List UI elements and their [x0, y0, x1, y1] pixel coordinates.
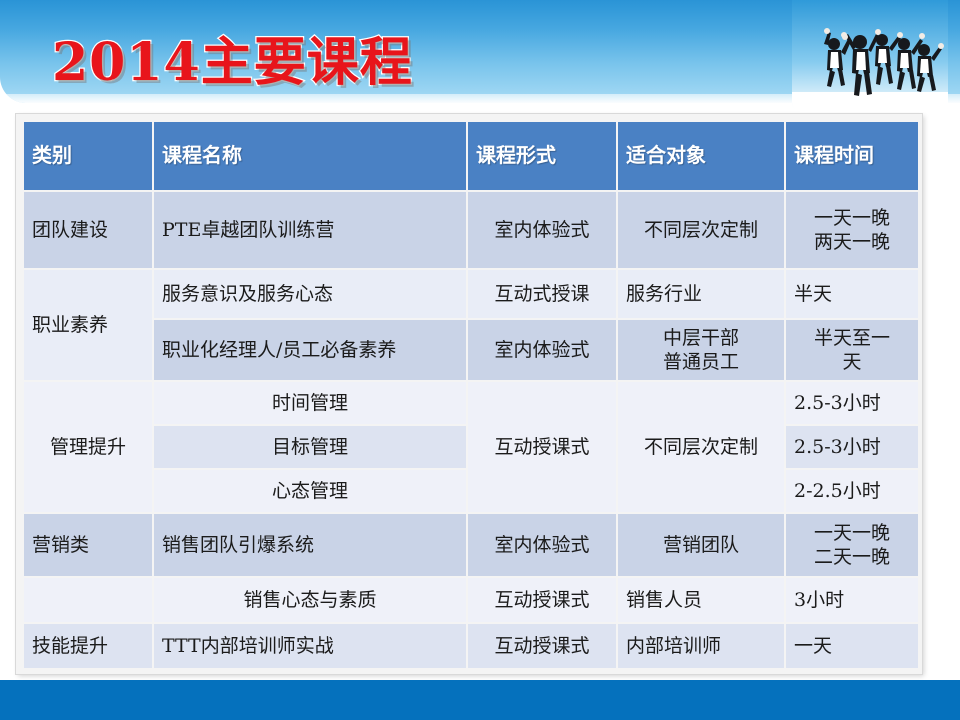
cell-course-name: 心态管理 [154, 470, 466, 512]
cell-course-format: 室内体验式 [468, 192, 616, 268]
cell-audience: 销售人员 [618, 578, 784, 622]
jumping-people-photo [792, 0, 948, 112]
column-header-course-name: 课程名称 [154, 122, 466, 190]
course-table: 类别 课程名称 课程形式 适合对象 课程时间 团队建设 PTE卓越团队训练营 室… [22, 120, 920, 670]
cell-course-format: 互动授课式 [468, 578, 616, 622]
cell-audience: 服务行业 [618, 270, 784, 318]
table-row: 职业化经理人/员工必备素养 室内体验式 中层干部 普通员工 半天至一 天 [24, 320, 918, 380]
slide-canvas: 2014主要课程 [0, 0, 960, 720]
cell-course-name: TTT内部培训师实战 [154, 624, 466, 668]
table-header-row: 类别 课程名称 课程形式 适合对象 课程时间 [24, 122, 918, 190]
table-row: 技能提升 TTT内部培训师实战 互动授课式 内部培训师 一天 [24, 624, 918, 668]
cell-course-name: 服务意识及服务心态 [154, 270, 466, 318]
cell-duration: 一天一晚 二天一晚 [786, 514, 918, 576]
cell-duration: 2-2.5小时 [786, 470, 918, 512]
table-row: 团队建设 PTE卓越团队训练营 室内体验式 不同层次定制 一天一晚 两天一晚 [24, 192, 918, 268]
cell-course-format: 互动授课式 [468, 382, 616, 512]
cell-course-name: 目标管理 [154, 426, 466, 468]
table-row: 管理提升 时间管理 互动授课式 不同层次定制 2.5-3小时 [24, 382, 918, 424]
cell-duration: 半天至一 天 [786, 320, 918, 380]
cell-audience: 营销团队 [618, 514, 784, 576]
cell-course-format: 室内体验式 [468, 514, 616, 576]
cell-category: 管理提升 [24, 382, 152, 512]
cell-category: 技能提升 [24, 624, 152, 668]
cell-course-format: 室内体验式 [468, 320, 616, 380]
duration-line-1: 一天一晚 [794, 521, 910, 545]
cell-course-name: 销售心态与素质 [154, 578, 466, 622]
cell-audience: 中层干部 普通员工 [618, 320, 784, 380]
table-row: 营销类 销售团队引爆系统 室内体验式 营销团队 一天一晚 二天一晚 [24, 514, 918, 576]
cell-duration: 3小时 [786, 578, 918, 622]
cell-course-name: 销售团队引爆系统 [154, 514, 466, 576]
cell-course-format: 互动式授课 [468, 270, 616, 318]
column-header-course-format: 课程形式 [468, 122, 616, 190]
duration-line-2: 二天一晚 [794, 545, 910, 569]
table-row: 销售心态与素质 互动授课式 销售人员 3小时 [24, 578, 918, 622]
column-header-duration: 课程时间 [786, 122, 918, 190]
cell-duration: 2.5-3小时 [786, 382, 918, 424]
cell-duration: 一天一晚 两天一晚 [786, 192, 918, 268]
cell-category: 职业素养 [24, 270, 152, 380]
cell-category: 营销类 [24, 514, 152, 576]
cell-category [24, 578, 152, 622]
audience-line-2: 普通员工 [626, 350, 776, 374]
duration-line-2: 两天一晚 [794, 230, 910, 254]
cell-audience: 不同层次定制 [618, 192, 784, 268]
cell-audience: 不同层次定制 [618, 382, 784, 512]
cell-audience: 内部培训师 [618, 624, 784, 668]
audience-line-1: 中层干部 [626, 326, 776, 350]
cell-duration: 2.5-3小时 [786, 426, 918, 468]
duration-line-2: 天 [794, 350, 910, 374]
cell-duration: 一天 [786, 624, 918, 668]
column-header-audience: 适合对象 [618, 122, 784, 190]
cell-duration: 半天 [786, 270, 918, 318]
cell-course-name: PTE卓越团队训练营 [154, 192, 466, 268]
cell-course-name: 职业化经理人/员工必备素养 [154, 320, 466, 380]
column-header-category: 类别 [24, 122, 152, 190]
cell-course-name: 时间管理 [154, 382, 466, 424]
cell-course-format: 互动授课式 [468, 624, 616, 668]
footer-bar [0, 680, 960, 720]
course-table-frame: 类别 课程名称 课程形式 适合对象 课程时间 团队建设 PTE卓越团队训练营 室… [16, 114, 922, 674]
duration-line-1: 半天至一 [794, 326, 910, 350]
table-row: 职业素养 服务意识及服务心态 互动式授课 服务行业 半天 [24, 270, 918, 318]
duration-line-1: 一天一晚 [794, 206, 910, 230]
page-title: 2014主要课程 [52, 20, 413, 95]
cell-category: 团队建设 [24, 192, 152, 268]
